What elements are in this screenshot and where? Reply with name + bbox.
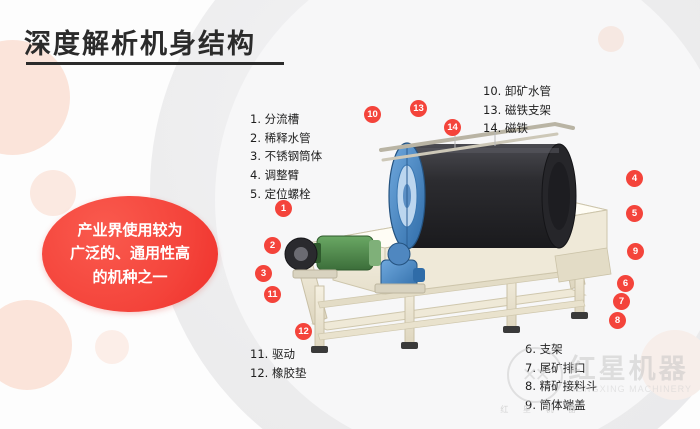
callout-marker-8: 8 xyxy=(609,312,626,329)
label-group-left: 1. 分流槽 2. 稀释水管 3. 不锈钢筒体 4. 调整臂 5. 定位螺栓 xyxy=(250,110,322,203)
watermark-brand-cn: 红星机器 xyxy=(569,355,692,385)
highlight-badge: 产业界使用较为 广泛的、通用性高 的机种之一 xyxy=(42,196,218,312)
callout-marker-2: 2 xyxy=(264,237,281,254)
callout-marker-3: 3 xyxy=(255,265,272,282)
callout-marker-1: 1 xyxy=(275,200,292,217)
decor-dot-4 xyxy=(95,330,129,364)
callout-marker-6: 6 xyxy=(617,275,634,292)
page-title: 深度解析机身结构 xyxy=(24,22,256,61)
callout-marker-13: 13 xyxy=(410,100,427,117)
infographic-canvas: 深度解析机身结构 产业界使用较为 广泛的、通用性高 的机种之一 xyxy=(0,0,700,429)
decor-dot-3 xyxy=(0,300,72,390)
callout-marker-4: 4 xyxy=(626,170,643,187)
watermark: ✕✕ 红星机器 HONGXING MACHINERY xyxy=(507,347,692,403)
callout-marker-7: 7 xyxy=(613,293,630,310)
callout-marker-11: 11 xyxy=(264,286,281,303)
title-underline xyxy=(26,62,284,65)
callout-marker-9: 9 xyxy=(627,243,644,260)
callout-marker-10: 10 xyxy=(364,106,381,123)
decor-dot-6 xyxy=(598,26,624,52)
watermark-logo-icon: ✕✕ xyxy=(507,347,563,403)
label-group-top-right: 10. 卸矿水管 13. 磁铁支架 14. 磁铁 xyxy=(483,82,551,138)
badge-line-2: 广泛的、通用性高 xyxy=(64,242,196,265)
badge-line-1: 产业界使用较为 xyxy=(64,219,196,242)
callout-marker-12: 12 xyxy=(295,323,312,340)
watermark-subtext: 红 星 机 器 xyxy=(500,404,582,415)
watermark-brand-en: HONGXING MACHINERY xyxy=(569,385,692,395)
label-group-bottom-left: 11. 驱动 12. 橡胶垫 xyxy=(250,345,306,382)
badge-line-3: 的机种之一 xyxy=(64,266,196,289)
callout-marker-5: 5 xyxy=(626,205,643,222)
callout-marker-14: 14 xyxy=(444,119,461,136)
decor-dot-2 xyxy=(30,170,76,216)
